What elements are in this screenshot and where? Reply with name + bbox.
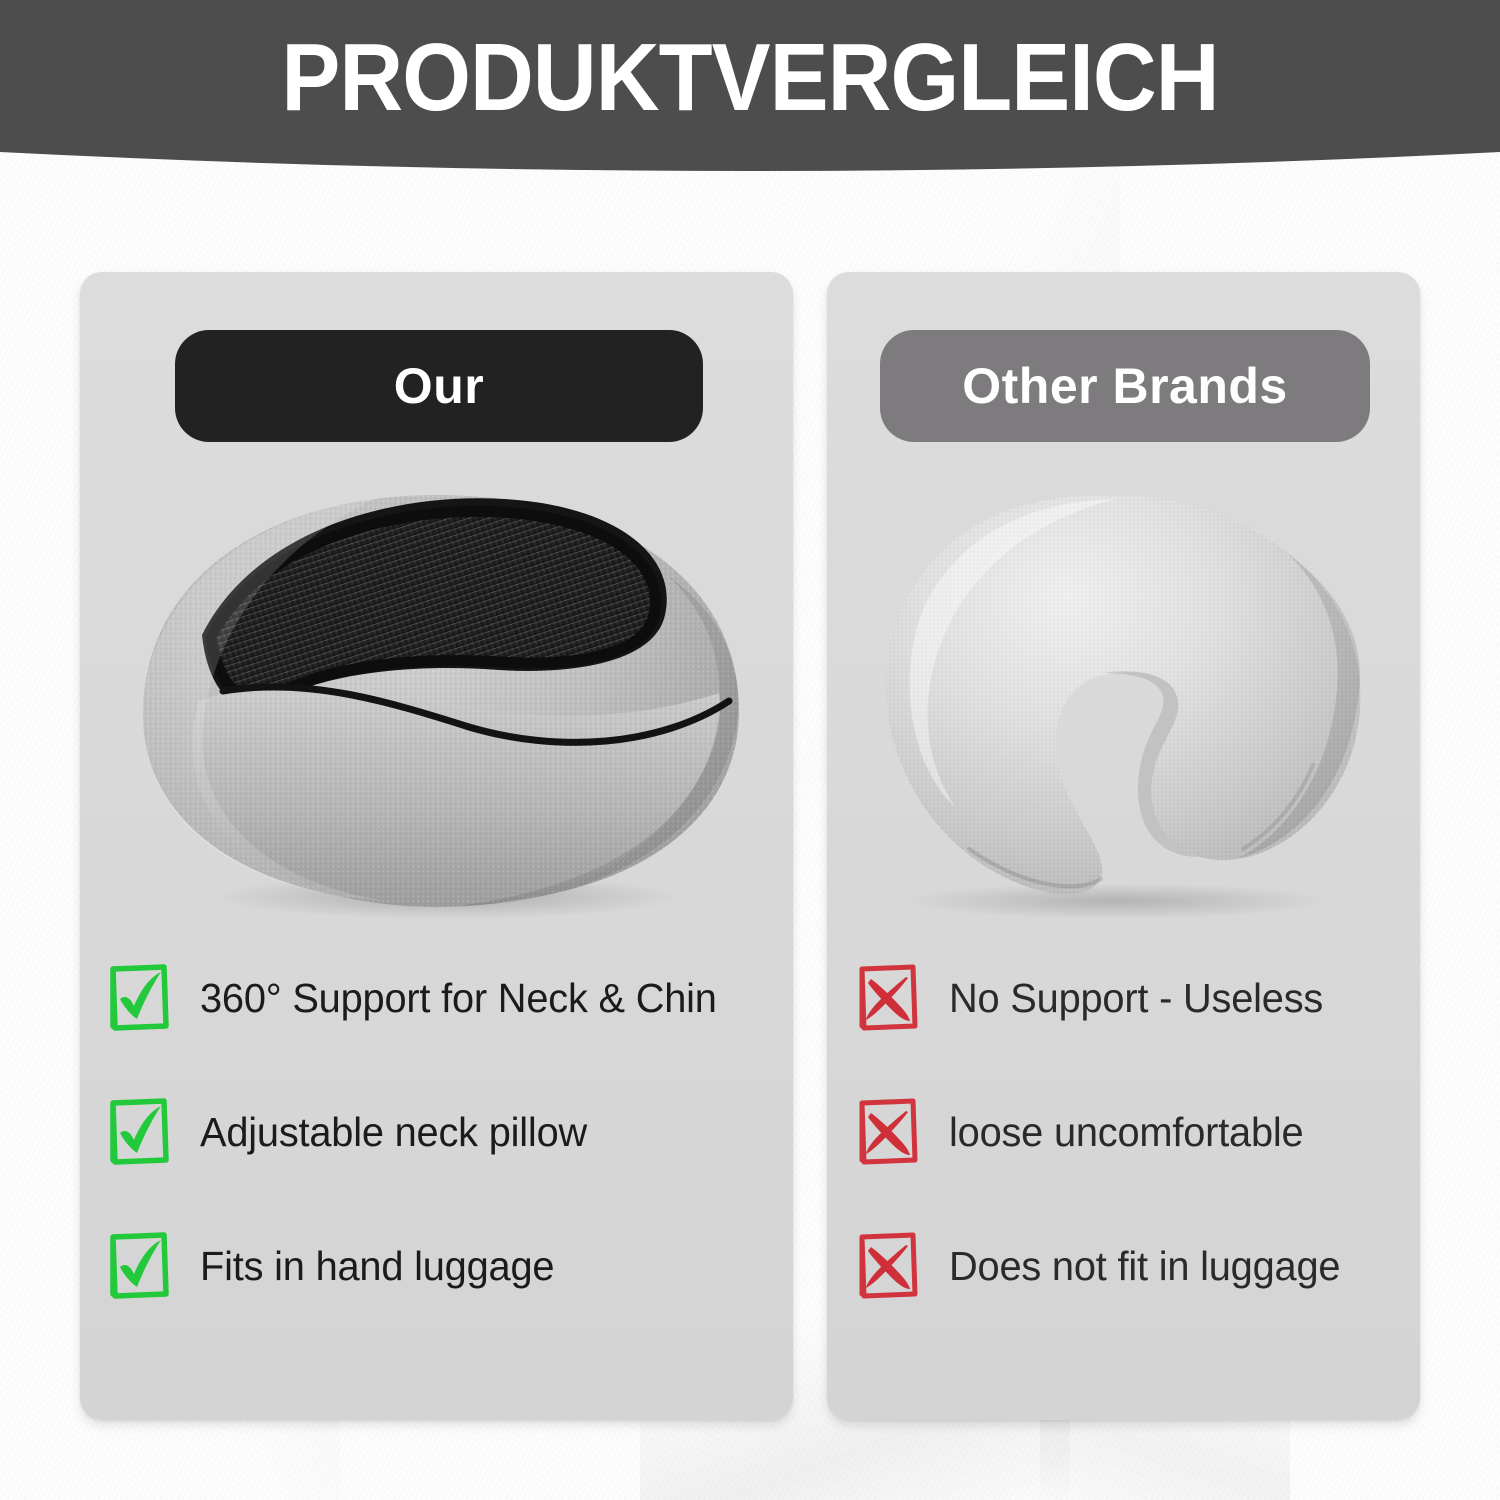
- feature-row: No Support - Useless: [855, 960, 1402, 1036]
- product-comparison-infographic: PRODUKTVERGLEICH Our: [0, 0, 1500, 1500]
- product-image-our: [90, 457, 783, 927]
- check-icon: [106, 1097, 172, 1167]
- u-shaped-pillow-illustration: [851, 477, 1396, 917]
- feature-label: 360° Support for Neck & Chin: [200, 975, 717, 1022]
- feature-label: No Support - Useless: [949, 975, 1323, 1022]
- check-icon: [106, 1231, 172, 1301]
- header-banner: PRODUKTVERGLEICH: [0, 0, 1500, 185]
- badge-other-brands: Other Brands: [880, 330, 1370, 442]
- check-icon: [106, 963, 172, 1033]
- feature-row: Fits in hand luggage: [106, 1228, 773, 1304]
- feature-label: Adjustable neck pillow: [200, 1109, 587, 1156]
- panel-our: Our: [80, 272, 793, 1420]
- cross-icon: [855, 963, 921, 1033]
- feature-label: Fits in hand luggage: [200, 1243, 554, 1290]
- feature-label: loose uncomfortable: [949, 1109, 1303, 1156]
- page-title: PRODUKTVERGLEICH: [60, 28, 1440, 129]
- badge-our: Our: [175, 330, 703, 442]
- feature-label: Does not fit in luggage: [949, 1243, 1340, 1290]
- feature-list-our: 360° Support for Neck & Chin Adjustable …: [106, 960, 773, 1362]
- feature-row: 360° Support for Neck & Chin: [106, 960, 773, 1036]
- round-donut-pillow-illustration: [107, 465, 767, 920]
- feature-row: Does not fit in luggage: [855, 1228, 1402, 1304]
- feature-row: loose uncomfortable: [855, 1094, 1402, 1170]
- feature-list-other: No Support - Useless loose uncomfortable: [855, 960, 1402, 1362]
- cross-icon: [855, 1097, 921, 1167]
- panel-other-brands: Other Brands: [827, 272, 1420, 1420]
- cross-icon: [855, 1231, 921, 1301]
- feature-row: Adjustable neck pillow: [106, 1094, 773, 1170]
- product-image-other: [837, 467, 1410, 927]
